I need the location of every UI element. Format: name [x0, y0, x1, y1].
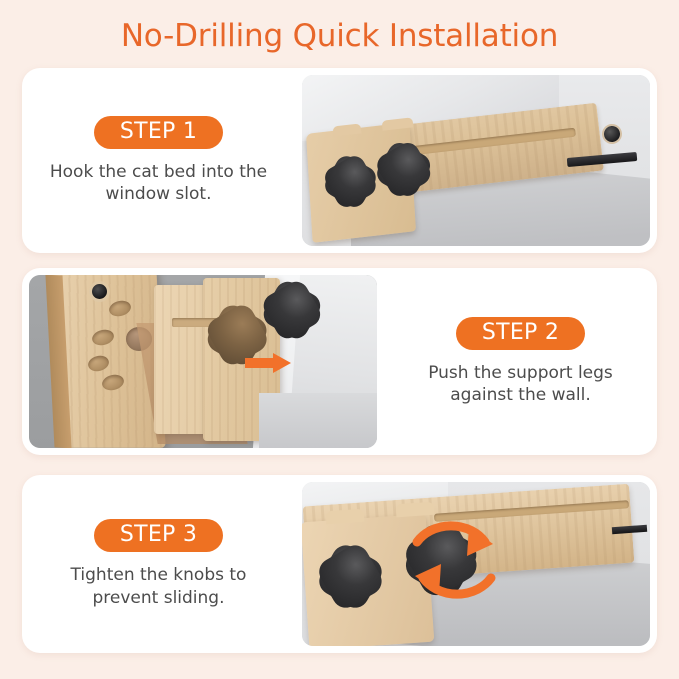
bracket-tab-left	[326, 509, 365, 525]
installation-guide-page: No-Drilling Quick Installation STEP 1 Ho…	[0, 0, 679, 679]
knob-black	[273, 291, 311, 329]
step-2-badge: STEP 2	[456, 317, 585, 350]
step-3-caption: Tighten the knobs to prevent sliding.	[41, 564, 276, 609]
step-1-caption: Hook the cat bed into the window slot.	[41, 161, 276, 206]
step-1-badge: STEP 1	[94, 116, 223, 149]
step-3-photo	[302, 482, 650, 646]
knob-wood	[217, 315, 257, 355]
step-1-text-pane: STEP 1 Hook the cat bed into the window …	[22, 68, 295, 253]
step-2-photo	[29, 275, 377, 448]
step-3-badge: STEP 3	[94, 519, 223, 552]
page-title: No-Drilling Quick Installation	[0, 18, 679, 54]
arrow-right-icon	[245, 353, 291, 373]
knob-right	[386, 152, 422, 188]
screw-icon	[92, 284, 107, 299]
rotate-arrows-icon	[399, 512, 509, 608]
step-card-2: STEP 2 Push the support legs against the…	[22, 268, 657, 455]
knob-left	[330, 556, 372, 598]
step-card-3: STEP 3 Tighten the knobs to prevent slid…	[22, 475, 657, 653]
knob-left	[333, 164, 367, 198]
step-card-1: STEP 1 Hook the cat bed into the window …	[22, 68, 657, 253]
step-2-text-pane: STEP 2 Push the support legs against the…	[384, 268, 657, 455]
step-1-photo	[302, 75, 650, 246]
step-2-caption: Push the support legs against the wall.	[403, 362, 638, 407]
floor-surface	[259, 393, 377, 448]
step-3-text-pane: STEP 3 Tighten the knobs to prevent slid…	[22, 475, 295, 653]
